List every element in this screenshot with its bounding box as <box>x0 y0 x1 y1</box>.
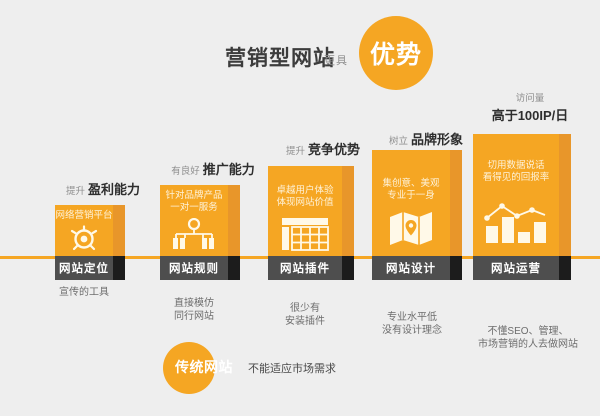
column-2-bar: 针对品牌产品 一对一服务 网站规则 <box>160 185 228 280</box>
column-2-caption: 有良好 推广能力 <box>148 158 278 178</box>
column-2-base-side <box>228 256 240 280</box>
traditional-badge-label: 传统网站 <box>160 357 248 377</box>
column-5-bar-text: 切用数据说话 看得见的回报率 <box>473 160 559 184</box>
column-2-caption-big: 推广能力 <box>203 162 255 177</box>
calendar-icon <box>268 216 342 252</box>
map-pin-icon <box>372 208 450 248</box>
column-2-caption-pre: 有良好 <box>171 166 200 177</box>
column-5-caption-lead: 访问量 <box>465 90 595 104</box>
column-1-base-side <box>113 256 125 280</box>
column-1-caption-big: 盈利能力 <box>88 182 140 197</box>
column-3-caption-big: 竞争优势 <box>308 142 360 157</box>
column-1-bar-side <box>113 205 125 256</box>
column-5-bar: 切用数据说话 看得见的回报率 网站运营 <box>473 134 559 280</box>
column-3-bar-text: 卓越用户体验 体现网站价值 <box>268 185 342 209</box>
column-1-footnote: 宣传的工具 <box>24 286 144 299</box>
column-4-base-side <box>450 256 462 280</box>
column-3-bar-side <box>342 166 354 256</box>
column-1-caption-pre: 提升 <box>66 186 85 197</box>
column-3-bar: 卓越用户体验 体现网站价值 网站插件 <box>268 166 342 280</box>
column-2-base-label: 网站规则 <box>160 256 228 280</box>
column-4-bar: 集创意、美观 专业于一身 网站设计 <box>372 150 450 280</box>
traditional-badge-note: 不能适应市场需求 <box>248 360 336 376</box>
column-2-footnote: 直接模仿 同行网站 <box>134 297 254 323</box>
column-4-base-label: 网站设计 <box>372 256 450 280</box>
column-2-bar-text: 针对品牌产品 一对一服务 <box>160 190 228 214</box>
column-5-caption: 访问量 高于100IP/日 <box>465 90 595 124</box>
column-1-bar: 网络营销平台 网站定位 <box>55 205 113 280</box>
network-icon <box>160 217 228 251</box>
column-4-bar-side <box>450 150 462 256</box>
column-3-footnote: 很少有 安装插件 <box>245 302 365 328</box>
page-title-sub: 更具 <box>324 52 348 68</box>
target-icon <box>55 224 113 254</box>
column-4-bar-text: 集创意、美观 专业于一身 <box>372 178 450 202</box>
column-5-footnote: 不懂SEO、管理、 市场营销的人去做网站 <box>458 325 598 351</box>
column-4-footnote: 专业水平低 没有设计理念 <box>352 311 472 337</box>
column-4-caption-pre: 树立 <box>389 136 408 147</box>
bar-chart-icon <box>473 194 559 246</box>
page-title: 营销型网站 <box>225 42 335 72</box>
column-5-base-label: 网站运营 <box>473 256 559 280</box>
column-5-caption-big: 高于100IP/日 <box>492 108 569 123</box>
column-5-bar-side <box>559 134 571 256</box>
column-1-base-label: 网站定位 <box>55 256 113 280</box>
column-3-base-side <box>342 256 354 280</box>
header: 营销型网站 更具 优势 <box>0 0 600 100</box>
column-4-caption-big: 品牌形象 <box>411 132 463 147</box>
column-1-caption: 提升 盈利能力 <box>38 178 168 198</box>
column-5-base-side <box>559 256 571 280</box>
column-3-caption-pre: 提升 <box>286 146 305 157</box>
column-1-bar-text: 网络营销平台 <box>55 210 113 222</box>
advantage-badge-label: 优势 <box>359 16 433 90</box>
column-3-base-label: 网站插件 <box>268 256 342 280</box>
column-2-bar-side <box>228 185 240 256</box>
